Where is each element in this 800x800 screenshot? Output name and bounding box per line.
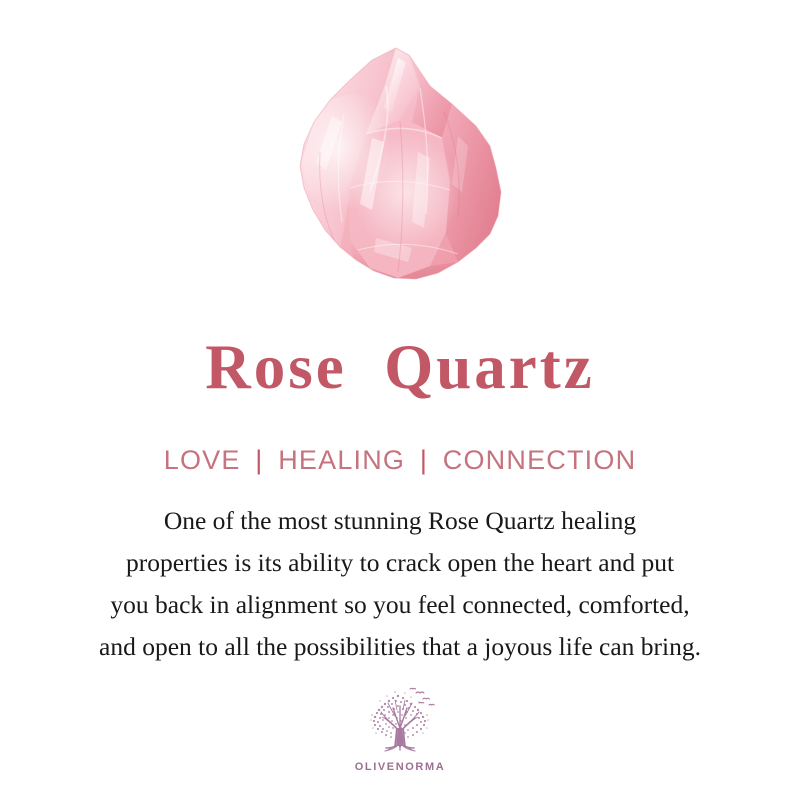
tree-of-life-icon [361,684,439,760]
rose-quartz-crystal-image [280,42,522,290]
page-title: Rose Quartz [0,336,800,399]
birds-icon [410,688,434,705]
product-image-container [0,0,800,310]
keyword-love: LOVE [164,445,241,475]
keyword-line: LOVE | HEALING | CONNECTION [0,446,800,476]
description-line: you back in alignment so you feel connec… [26,584,774,626]
keyword-healing: HEALING [278,445,405,475]
poster-canvas: Rose Quartz LOVE | HEALING | CONNECTION … [0,0,800,800]
description-line: One of the most stunning Rose Quartz hea… [26,500,774,542]
crystal-body [280,42,522,290]
keyword-separator-2: | [414,445,434,475]
description-line: properties is its ability to crack open … [26,542,774,584]
tree-roots [385,745,415,751]
brand-name: OLIVENORMA [355,761,446,773]
keyword-separator-1: | [249,445,269,475]
description-line: and open to all the possibilities that a… [26,626,774,668]
product-description: One of the most stunning Rose Quartz hea… [26,500,774,668]
brand-logo: OLIVENORMA [0,684,800,784]
tree-trunk [394,728,406,746]
keyword-connection: CONNECTION [443,445,637,475]
